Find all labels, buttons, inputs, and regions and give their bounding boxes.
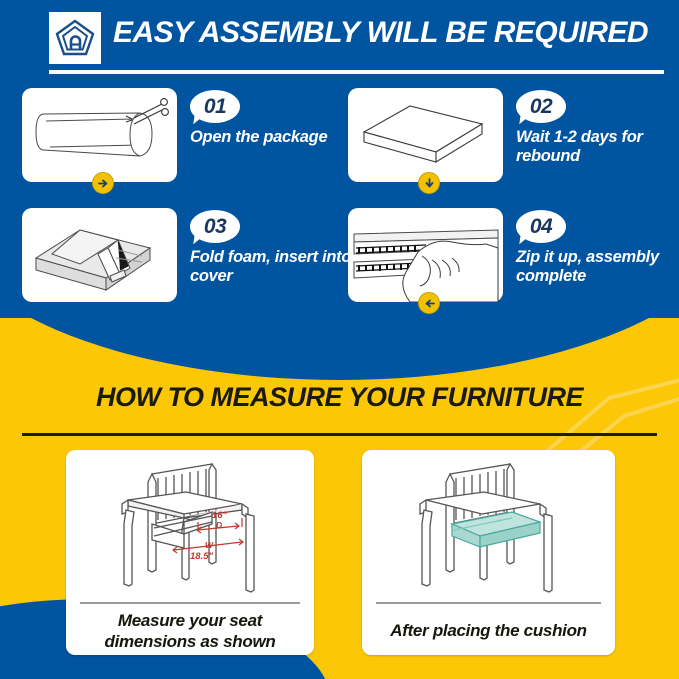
step-01-label: Open the package <box>190 128 365 147</box>
assembly-steps: 01 Open the package <box>0 88 679 318</box>
measure-card-1: 16" D W 18.5" Measure your seat dimensio… <box>66 450 314 655</box>
chair-with-dimension-arrows-icon: 16" D W 18.5" <box>66 452 314 597</box>
measure-title-divider <box>22 433 657 436</box>
step-04-label: Zip it up, assembly complete <box>516 248 679 286</box>
step-01-number-badge: 01 <box>190 90 244 126</box>
rolled-package-with-scissors-icon <box>22 88 177 182</box>
measure-card-2-caption: After placing the cushion <box>370 620 607 641</box>
arrow-down-icon <box>418 172 440 194</box>
flat-foam-slab-icon <box>348 88 503 182</box>
step-04-number-badge: 04 <box>516 210 570 246</box>
foam-folded-into-cover-icon <box>22 208 177 302</box>
measure-card-2: After placing the cushion <box>362 450 615 655</box>
step-03: 03 Fold foam, insert into cover <box>22 208 352 316</box>
dimension-depth-axis: D <box>216 520 222 530</box>
page-title: EASY ASSEMBLY WILL BE REQUIRED <box>113 16 648 50</box>
step-number: 01 <box>204 95 226 119</box>
chair-with-seat-cushion-icon <box>362 452 615 597</box>
house-pentagon-a-logo-icon <box>49 12 101 64</box>
step-03-card <box>22 208 177 302</box>
step-03-label: Fold foam, insert into cover <box>190 248 365 286</box>
card-divider <box>80 602 300 604</box>
infographic-page: EASY ASSEMBLY WILL BE REQUIRED <box>0 0 679 679</box>
step-04-card <box>348 208 503 302</box>
arrow-left-icon <box>418 292 440 314</box>
step-number: 04 <box>530 215 552 239</box>
step-number: 02 <box>530 95 552 119</box>
measure-section-title: HOW TO MEASURE YOUR FURNITURE <box>0 382 679 413</box>
step-02-label: Wait 1-2 days for rebound <box>516 128 679 166</box>
step-02-number-badge: 02 <box>516 90 570 126</box>
step-02: 02 Wait 1-2 days for rebound <box>348 88 678 196</box>
dimension-width-axis: W <box>205 540 214 550</box>
card-divider <box>376 602 601 604</box>
measure-card-1-caption: Measure your seat dimensions as shown <box>74 610 306 652</box>
arrow-right-icon <box>92 172 114 194</box>
step-01-card <box>22 88 177 182</box>
step-04: 04 Zip it up, assembly complete <box>348 208 678 316</box>
step-02-card <box>348 88 503 182</box>
step-03-number-badge: 03 <box>190 210 244 246</box>
hand-zipping-cushion-cover-icon <box>348 208 503 302</box>
step-01: 01 Open the package <box>22 88 352 196</box>
step-number: 03 <box>204 215 226 239</box>
header-divider <box>49 70 664 74</box>
dimension-width-value: 18.5" <box>190 551 213 562</box>
header: EASY ASSEMBLY WILL BE REQUIRED <box>0 0 679 76</box>
